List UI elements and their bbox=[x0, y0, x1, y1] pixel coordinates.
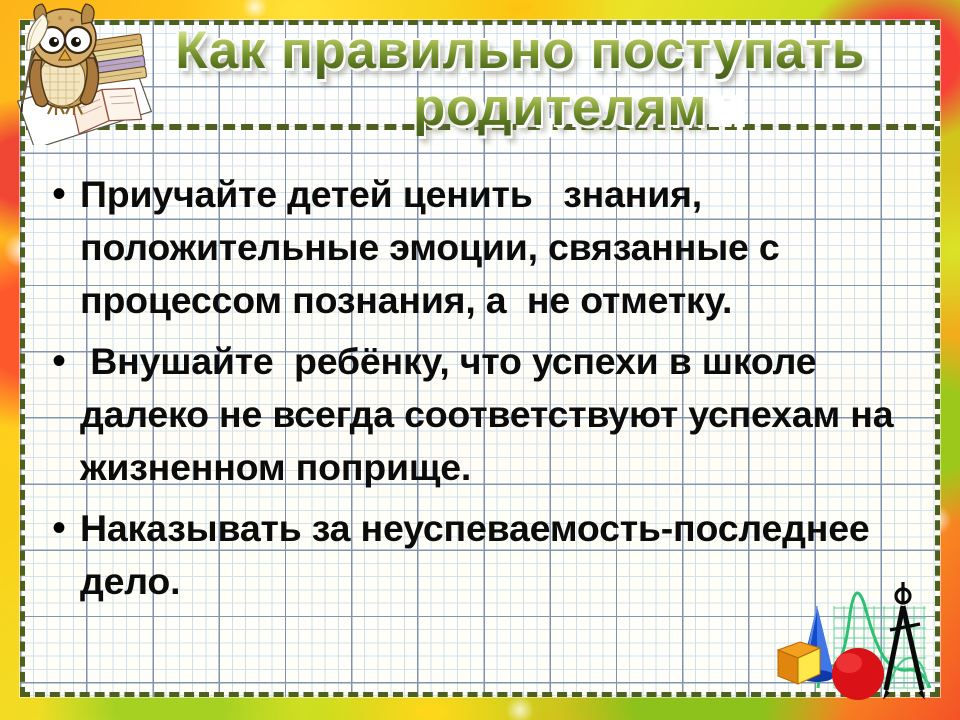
owl-with-quill-and-books-icon bbox=[2, 0, 152, 145]
title-line-1: Как правильно поступать bbox=[120, 22, 920, 79]
bullet-marker-icon: • bbox=[52, 168, 80, 220]
bullet-text-1: Приучайте детей ценить знания, положител… bbox=[80, 168, 932, 327]
title-line-2: родителям bbox=[120, 79, 920, 136]
page-title: Как правильно поступать Как правильно по… bbox=[120, 22, 920, 136]
bullet-text-2: Внушайте ребёнку, что успехи в школе дал… bbox=[80, 335, 932, 494]
bullet-marker-icon: • bbox=[52, 502, 80, 554]
bullet-marker-icon: • bbox=[52, 335, 80, 387]
list-item: • Приучайте детей ценить знания, положит… bbox=[52, 168, 932, 327]
bullet-list: • Приучайте детей ценить знания, положит… bbox=[52, 168, 932, 616]
geometry-solids-and-compass-icon bbox=[770, 578, 945, 703]
slide-root: Как правильно поступать Как правильно по… bbox=[0, 0, 960, 720]
list-item: • Внушайте ребёнку, что успехи в школе д… bbox=[52, 335, 932, 494]
